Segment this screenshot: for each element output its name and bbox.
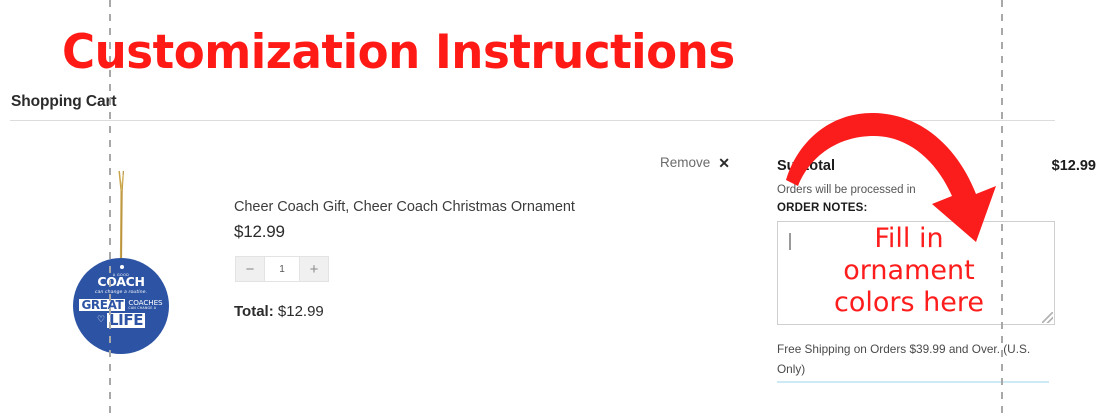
guide-line-right: [1001, 0, 1003, 414]
order-notes-label: ORDER NOTES:: [777, 202, 868, 214]
product-total-value: $12.99: [278, 303, 324, 320]
ornament-word-canchange: CAN CHANGE A: [128, 307, 162, 310]
ornament-hole: [120, 265, 124, 269]
ornament-line-3: can change a routine.: [73, 291, 169, 296]
processing-note: Orders will be processed in: [777, 184, 1017, 196]
ornament-string-icon: [118, 169, 124, 265]
quantity-decrease-button[interactable]: −: [235, 256, 264, 282]
product-thumbnail[interactable]: A GOOD COACH can change a routine. GREAT…: [60, 165, 205, 355]
product-price: $12.99: [234, 222, 285, 242]
ornament-word-life: LIFE: [107, 313, 145, 328]
product-total-label: Total:: [234, 303, 274, 320]
quantity-stepper[interactable]: − 1 +: [235, 256, 329, 282]
order-notes-textarea[interactable]: [777, 221, 1055, 325]
quantity-input[interactable]: 1: [264, 256, 300, 282]
remove-item-button[interactable]: Remove ✕: [660, 155, 730, 170]
remove-label: Remove: [660, 155, 710, 170]
resize-handle-icon[interactable]: [1042, 312, 1053, 323]
product-total: Total: $12.99: [234, 303, 324, 320]
heart-icon: ♡: [97, 316, 105, 325]
close-x-icon[interactable]: ✕: [718, 156, 730, 170]
subtotal-value: $12.99: [1052, 158, 1096, 174]
ornament-word-great: GREAT: [79, 299, 125, 311]
product-title[interactable]: Cheer Coach Gift, Cheer Coach Christmas …: [234, 199, 575, 215]
text-caret: [789, 233, 791, 250]
quantity-increase-button[interactable]: +: [300, 256, 329, 282]
annotation-headline: Customization Instructions: [62, 26, 735, 80]
header-divider: [10, 120, 1055, 121]
customization-instructions-screenshot: Customization Instructions Shopping Cart…: [0, 0, 1108, 414]
summary-rule: [777, 381, 1049, 383]
ornament-artwork: A GOOD COACH can change a routine. GREAT…: [73, 274, 169, 328]
ornament-disc: A GOOD COACH can change a routine. GREAT…: [73, 258, 169, 354]
free-shipping-note: Free Shipping on Orders $39.99 and Over.…: [777, 339, 1039, 379]
ornament-line-2: COACH: [73, 276, 169, 289]
page-title: Shopping Cart: [11, 93, 116, 111]
subtotal-label: Subtotal: [777, 158, 835, 174]
